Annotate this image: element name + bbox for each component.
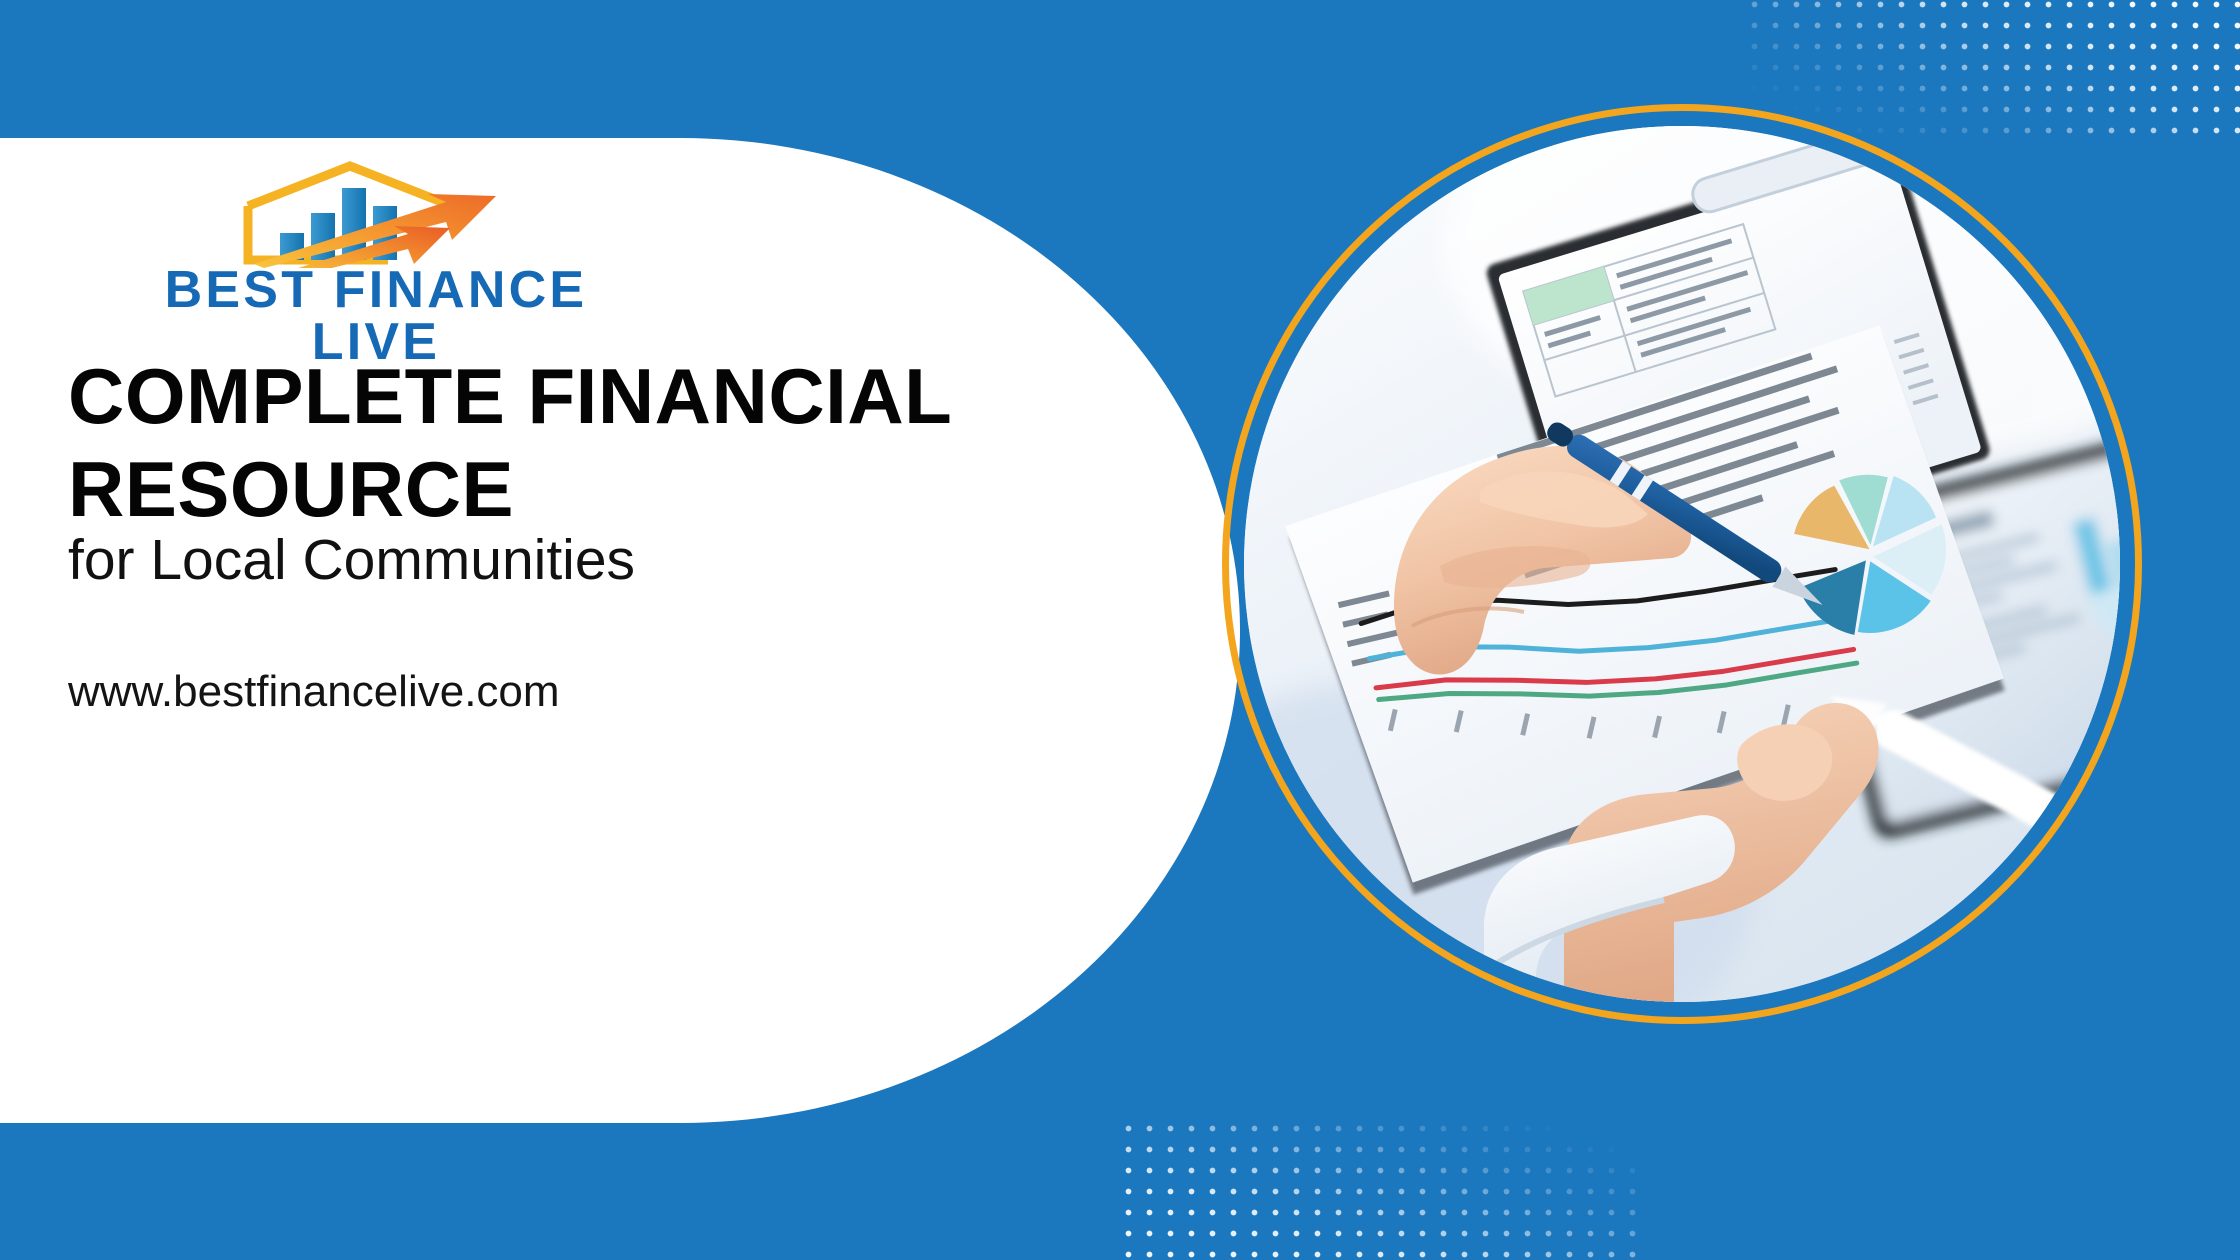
banner-canvas: BEST FINANCE LIVE COMPLETE FINANCIAL RES…: [0, 0, 2240, 1260]
halftone-dots-bottom-center-icon: [1118, 1118, 1638, 1260]
page-title: COMPLETE FINANCIAL RESOURCE: [68, 350, 1128, 536]
page-title-line-2: RESOURCE: [68, 443, 1128, 536]
house-bar-chart-arrow-logo-icon: [238, 160, 508, 268]
page-subtitle: for Local Communities: [68, 526, 1068, 594]
page-title-line-1: COMPLETE FINANCIAL: [68, 350, 1128, 443]
photo-circle-ring: [1222, 104, 2142, 1024]
content-column: BEST FINANCE LIVE COMPLETE FINANCIAL RES…: [0, 138, 1240, 1123]
website-url[interactable]: www.bestfinancelive.com: [68, 666, 1068, 719]
hero-photo-circle: [1222, 104, 2142, 1024]
